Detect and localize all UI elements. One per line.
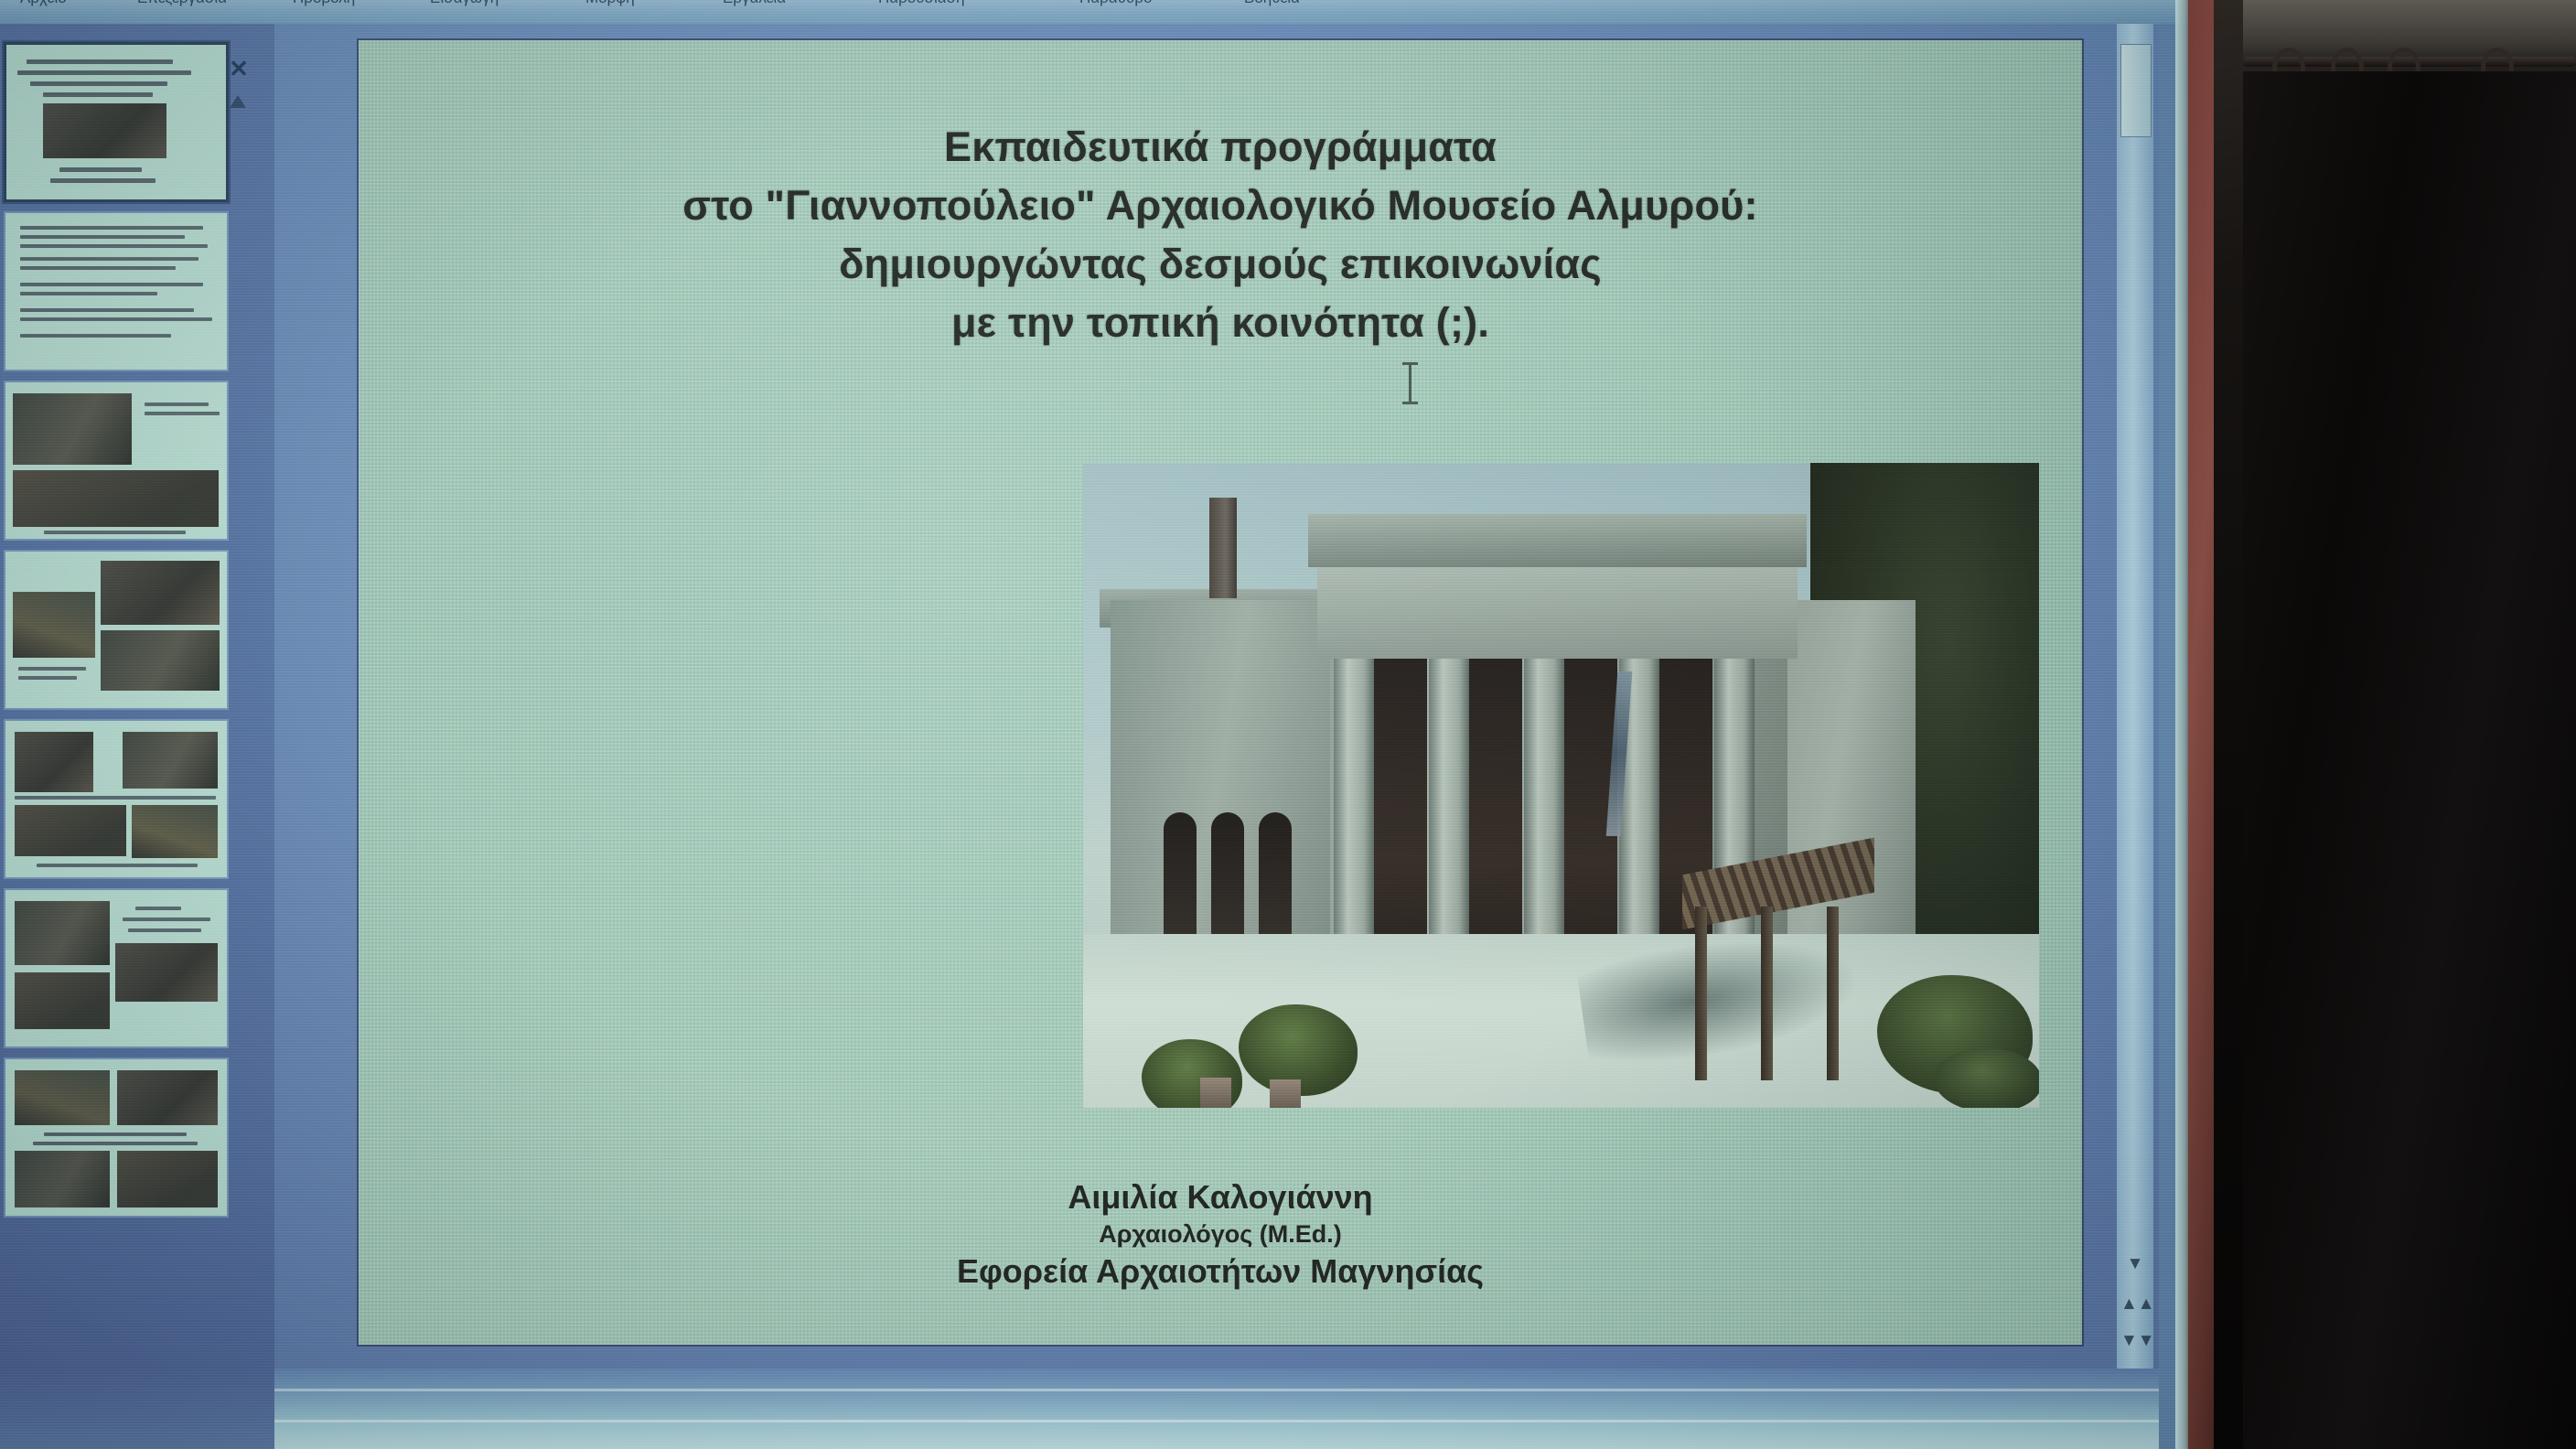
photo-chimney (1209, 498, 1237, 598)
scroll-up-icon[interactable] (225, 90, 251, 113)
menu-item-view[interactable]: Προβολή (293, 0, 355, 7)
menu-item-file[interactable]: Αρχείο (20, 0, 67, 7)
title-line-3: δημιουργώντας δεσμούς επικοινωνίας (359, 235, 2082, 294)
photo-pergola-post (1695, 907, 1707, 1080)
menu-item-insert[interactable]: Εισαγωγή (430, 0, 499, 7)
photo-flowerpot (1200, 1078, 1231, 1108)
menu-item-help[interactable]: Βοήθεια (1244, 0, 1300, 7)
photo-pergola (1682, 856, 1874, 1076)
list-item[interactable] (4, 550, 229, 710)
list-item[interactable] (4, 42, 229, 202)
photo-entablature (1317, 567, 1798, 659)
author-organization: Εφορεία Αρχαιοτήτων Μαγνησίας (359, 1250, 2082, 1293)
slide-thumbnail-pane[interactable]: ✕ (0, 24, 274, 1423)
notes-pane[interactable] (274, 1368, 2159, 1449)
photo-pergola-post (1761, 907, 1773, 1080)
vertical-scrollbar[interactable] (2117, 24, 2153, 1423)
photo-pergola-post (1827, 907, 1839, 1080)
room-dark-area (2214, 0, 2576, 1449)
next-slide-icon[interactable]: ▼▼ (2120, 1328, 2150, 1356)
menu-item-format[interactable]: Μορφή (585, 0, 635, 7)
title-line-2: στο "Γιαννοπούλειο" Αρχαιολογικό Μουσείο… (359, 177, 2082, 235)
list-item[interactable] (4, 888, 229, 1048)
author-name: Αιμιλία Καλογιάννη (359, 1176, 2082, 1218)
close-icon[interactable]: ✕ (225, 55, 252, 82)
outline-pane-footer (0, 1368, 274, 1449)
menu-item-tools[interactable]: Εργαλεία (723, 0, 786, 7)
scroll-down-icon[interactable]: ▼ (2120, 1251, 2150, 1279)
room-curtain (2243, 71, 2576, 1449)
photo-pediment (1308, 514, 1807, 567)
menu-item-edit[interactable]: Επεξεργασία (137, 0, 227, 7)
photo-flowerpot (1270, 1079, 1301, 1108)
previous-slide-icon[interactable]: ▲▲ (2120, 1292, 2150, 1319)
list-item[interactable] (4, 1057, 229, 1218)
list-item[interactable] (4, 719, 229, 879)
list-item[interactable] (4, 211, 229, 371)
menu-item-window[interactable]: Παράθυρο (1079, 0, 1152, 7)
title-line-1: Εκπαιδευτικά προγράμματα (359, 118, 2082, 177)
text-cursor-icon (1409, 362, 1411, 404)
menu-bar[interactable]: Αρχείο Επεξεργασία Προβολή Εισαγωγή Μορφ… (0, 0, 2195, 24)
page-title: Εκπαιδευτικά προγράμματα στο "Γιαννοπούλ… (359, 118, 2082, 352)
menu-item-slideshow[interactable]: Παρουσίαση (878, 0, 965, 7)
author-block: Αιμιλία Καλογιάννη Αρχαιολόγος (M.Ed.) Ε… (359, 1176, 2082, 1293)
current-slide[interactable]: Εκπαιδευτικά προγράμματα στο "Γιαννοπούλ… (357, 38, 2084, 1347)
museum-photo[interactable] (1083, 463, 2039, 1108)
scrollbar-thumb[interactable] (2120, 44, 2152, 137)
photo-shrub (1934, 1048, 2039, 1108)
list-item[interactable] (4, 381, 229, 541)
screenshot-root: Αρχείο Επεξεργασία Προβολή Εισαγωγή Μορφ… (0, 0, 2576, 1449)
title-line-4: με την τοπική κοινότητα (;). (359, 294, 2082, 352)
projection-screen: Αρχείο Επεξεργασία Προβολή Εισαγωγή Μορφ… (0, 0, 2195, 1449)
author-role: Αρχαιολόγος (M.Ed.) (359, 1218, 2082, 1250)
